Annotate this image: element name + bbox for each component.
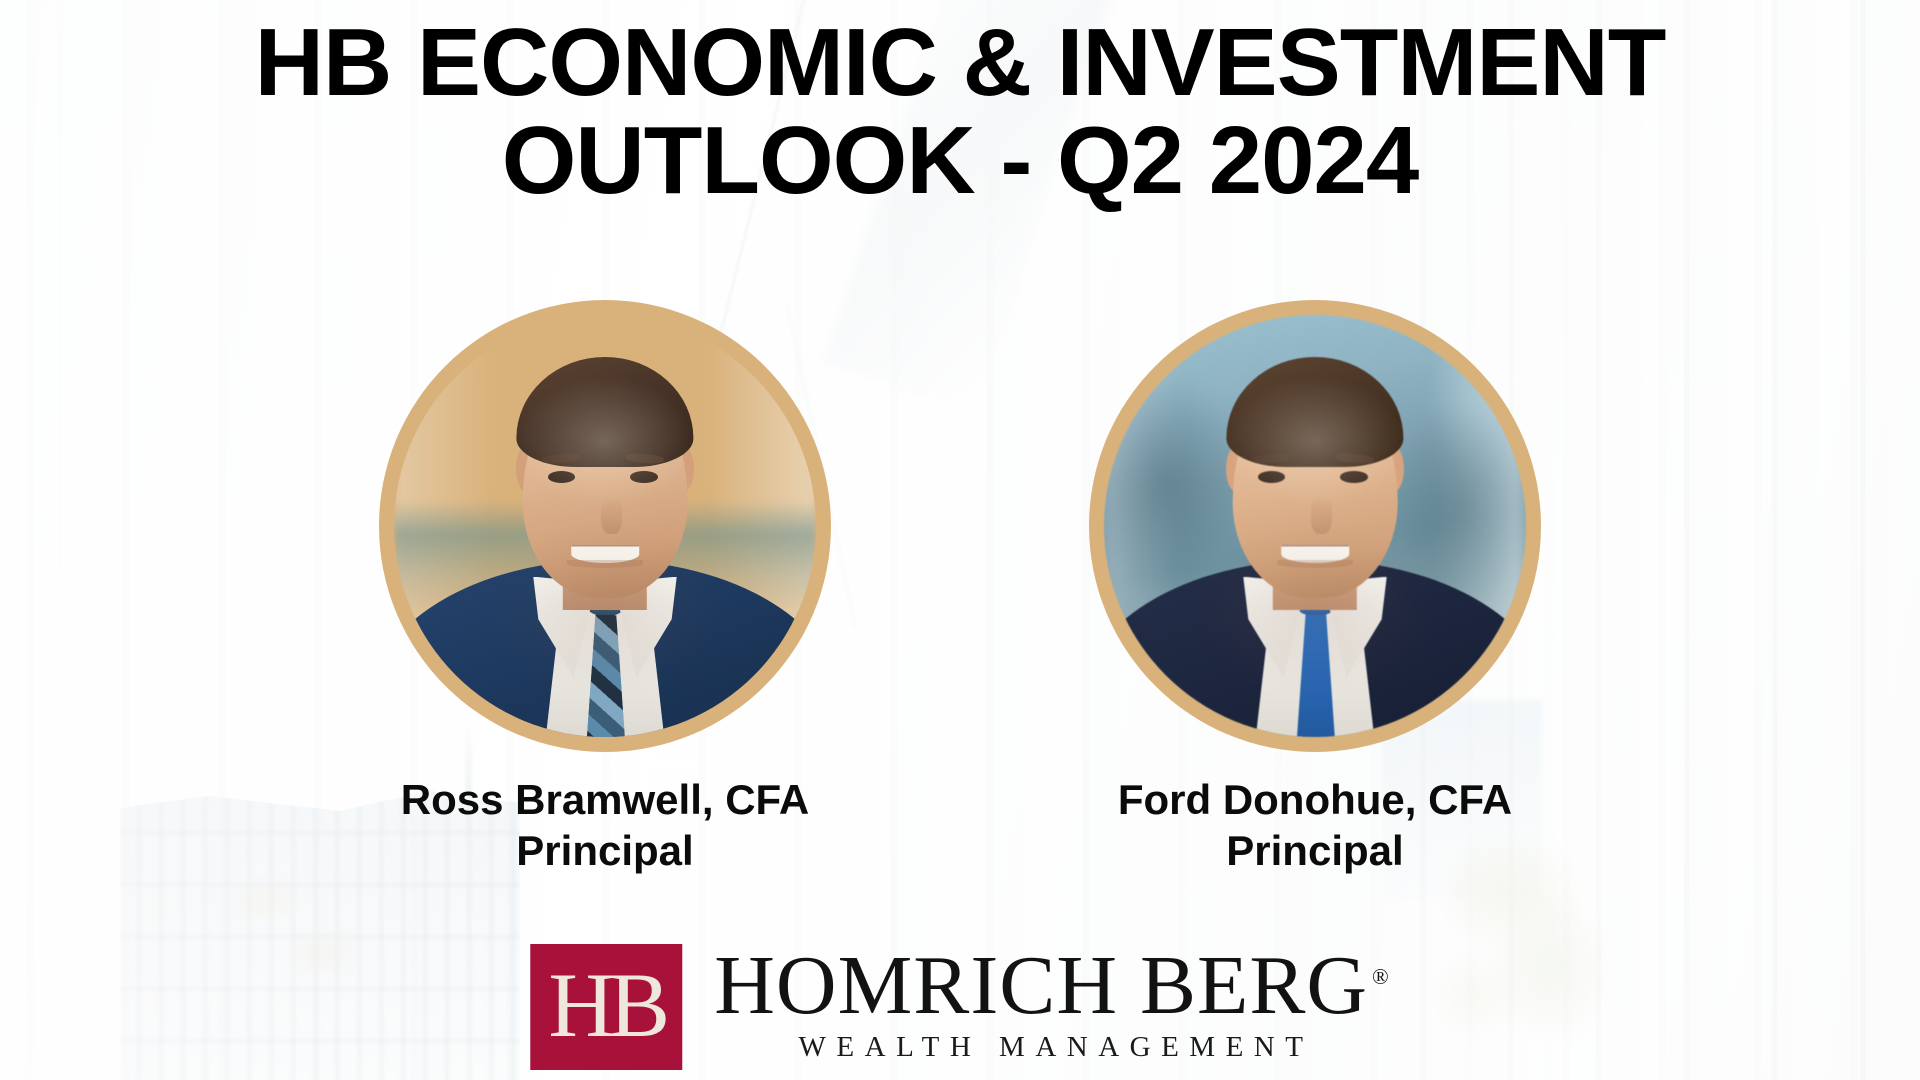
speaker-caption: Ford Donohue, CFA Principal (1118, 774, 1512, 876)
portrait-photo-ross-bramwell (394, 315, 816, 737)
background-window-glint (236, 880, 294, 920)
logo-tagline: WEALTH MANAGEMENT (714, 1033, 1389, 1062)
title-line-1: HB ECONOMIC & INVESTMENT (0, 14, 1920, 112)
speaker-card-ford-donohue: Ford Donohue, CFA Principal (1080, 300, 1550, 876)
nose (1311, 496, 1332, 534)
eye-right (630, 471, 657, 483)
eye-right (1340, 471, 1367, 483)
eye-left (548, 471, 575, 483)
speaker-name: Ross Bramwell, CFA (401, 774, 809, 825)
logo-company-name: HOMRICH BERG® (714, 946, 1389, 1027)
title-line-2: OUTLOOK - Q2 2024 (0, 112, 1920, 210)
speaker-role: Principal (1118, 825, 1512, 876)
hb-monogram-text: HB (548, 959, 664, 1051)
portrait-ring-gold (1089, 300, 1541, 752)
speaker-list: Ross Bramwell, CFA Principal (0, 300, 1920, 876)
eye-left (1258, 471, 1285, 483)
speaker-name: Ford Donohue, CFA (1118, 774, 1512, 825)
presentation-slide: HB ECONOMIC & INVESTMENT OUTLOOK - Q2 20… (0, 0, 1920, 1080)
speaker-role: Principal (401, 825, 809, 876)
registered-trademark-icon: ® (1372, 964, 1390, 989)
speaker-caption: Ross Bramwell, CFA Principal (401, 774, 809, 876)
logo-company-name-text: HOMRICH BERG (714, 939, 1368, 1032)
hb-monogram-mark: HB (530, 944, 682, 1070)
slide-title: HB ECONOMIC & INVESTMENT OUTLOOK - Q2 20… (0, 14, 1920, 210)
speaker-card-ross-bramwell: Ross Bramwell, CFA Principal (370, 300, 840, 876)
portrait-ring-gold (379, 300, 831, 752)
nose (601, 496, 622, 534)
homrich-berg-logo: HB HOMRICH BERG® WEALTH MANAGEMENT (530, 944, 1389, 1070)
portrait-photo-ford-donohue (1104, 315, 1526, 737)
background-window-glint (290, 930, 354, 976)
logo-wordmark-group: HOMRICH BERG® WEALTH MANAGEMENT (714, 944, 1389, 1062)
